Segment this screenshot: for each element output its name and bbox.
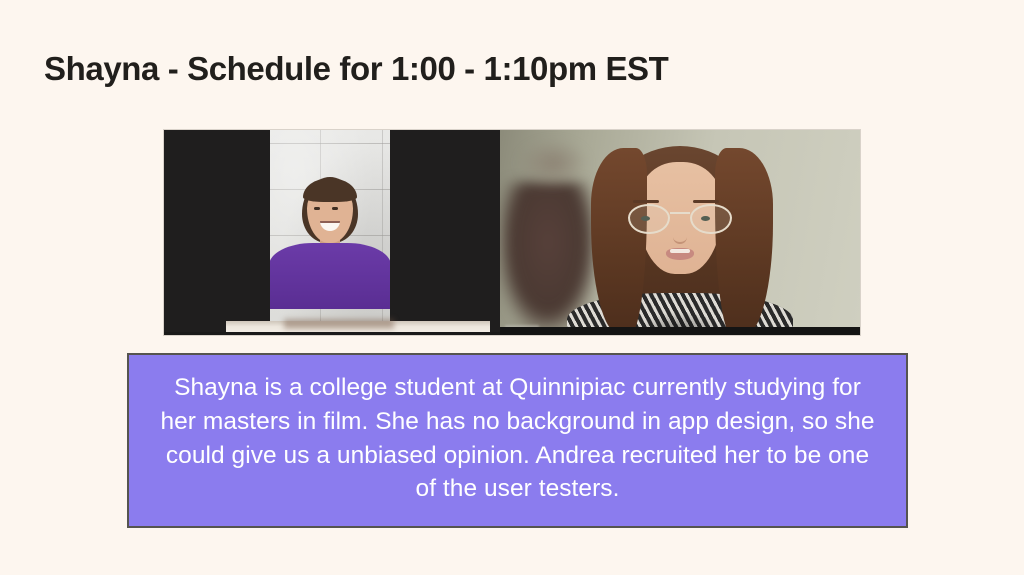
right-pane-bottom-bar [500,327,860,335]
glasses-lens-right [690,204,732,234]
video-pane-right [500,130,860,335]
right-nose [673,230,687,244]
left-hair-front [303,178,357,202]
right-teeth [670,249,690,253]
caption-box: Shayna is a college student at Quinnipia… [127,353,908,528]
desk-object-blur [284,319,394,329]
presentation-slide: Shayna - Schedule for 1:00 - 1:10pm EST [0,0,1024,575]
page-title: Shayna - Schedule for 1:00 - 1:10pm EST [44,50,668,88]
left-participant-figure [270,159,390,309]
glasses-bridge [670,212,690,214]
video-pane-left [164,130,500,335]
glasses-lens-left [628,204,670,234]
left-pane-bottom-bar [164,332,500,335]
left-eye-right [332,207,338,210]
left-purple-shirt [270,243,390,309]
left-eye-left [314,207,320,210]
right-eyebrow-right [693,200,719,203]
right-participant-figure [565,144,795,335]
left-participant-video [270,130,390,335]
right-eyebrow-left [633,200,659,203]
caption-text: Shayna is a college student at Quinnipia… [155,371,880,505]
video-call-screenshot [163,129,861,336]
